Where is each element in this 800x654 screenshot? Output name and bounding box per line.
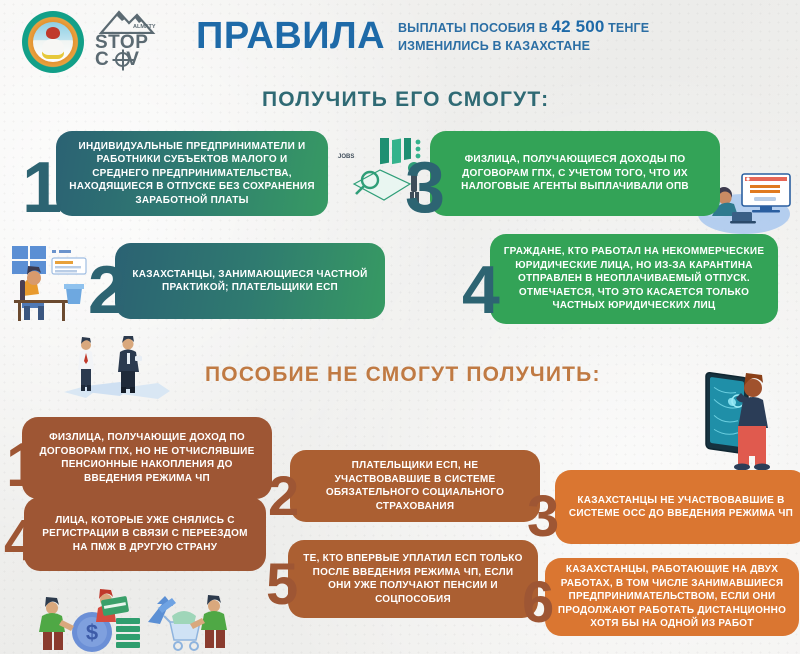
card-ineligible-4-text: ЛИЦА, КОТОРЫЕ УЖЕ СНЯЛИСЬ С РЕГИСТРАЦИИ … bbox=[36, 514, 254, 555]
card-ineligible-3[interactable]: КАЗАХСТАНЦЫ НЕ УЧАСТВОВАВШИЕ В СИСТЕМЕ О… bbox=[555, 470, 800, 544]
mountain-icon: ALMATY bbox=[95, 8, 171, 34]
section-heading-eligible: ПОЛУЧИТЬ ЕГО СМОГУТ: bbox=[262, 88, 549, 112]
card-ineligible-5[interactable]: ТЕ, КТО ВПЕРВЫЕ УПЛАТИЛ ЕСП ТОЛЬКО ПОСЛЕ… bbox=[288, 540, 538, 618]
section-heading-ineligible: ПОСОБИЕ НЕ СМОГУТ ПОЛУЧИТЬ: bbox=[205, 363, 601, 387]
stop-cov-logo: ALMATY STOP CV bbox=[95, 8, 173, 76]
card-ineligible-6-text: КАЗАХСТАНЦЫ, РАБОТАЮЩИЕ НА ДВУХ РАБОТАХ,… bbox=[557, 563, 787, 631]
person-at-desk-workspace-illustration bbox=[4, 240, 94, 328]
card-number-eligible-2: 2 bbox=[88, 256, 126, 324]
card-number-ineligible-3: 3 bbox=[527, 488, 559, 546]
card-eligible-2[interactable]: КАЗАХСТАНЦЫ, ЗАНИМАЮЩИЕСЯ ЧАСТНОЙ ПРАКТИ… bbox=[115, 243, 385, 319]
almaty-city-emblem-logo bbox=[22, 11, 84, 73]
card-eligible-1-text: ИНДИВИДУАЛЬНЫЕ ПРЕДПРИНИМАТЕЛИ И РАБОТНИ… bbox=[68, 140, 316, 208]
card-eligible-1[interactable]: ИНДИВИДУАЛЬНЫЕ ПРЕДПРИНИМАТЕЛИ И РАБОТНИ… bbox=[56, 131, 328, 216]
card-eligible-3-text: ФИЗЛИЦА, ПОЛУЧАЮЩИЕСЯ ДОХОДЫ ПО ДОГОВОРА… bbox=[442, 153, 708, 194]
two-businessmen-on-arrows-illustration bbox=[56, 336, 186, 408]
card-number-eligible-3: 3 bbox=[405, 152, 445, 224]
emblem-inner-crest bbox=[33, 22, 73, 62]
card-ineligible-2-text: ПЛАТЕЛЬЩИКИ ЕСП, НЕ УЧАСТВОВАВШИЕ В СИСТ… bbox=[302, 459, 528, 513]
card-number-ineligible-4: 4 bbox=[4, 512, 36, 570]
subtitle-amount: 42 500 bbox=[552, 17, 605, 36]
card-eligible-2-text: КАЗАХСТАНЦЫ, ЗАНИМАЮЩИЕСЯ ЧАСТНОЙ ПРАКТИ… bbox=[127, 268, 373, 295]
card-eligible-4[interactable]: ГРАЖДАНЕ, КТО РАБОТАЛ НА НЕКОММЕРЧЕСКИЕ … bbox=[490, 234, 778, 324]
card-ineligible-5-text: ТЕ, КТО ВПЕРВЫЕ УПЛАТИЛ ЕСП ТОЛЬКО ПОСЛЕ… bbox=[300, 552, 526, 606]
svg-text:JOBS: JOBS bbox=[338, 154, 354, 160]
virus-icon bbox=[115, 52, 130, 67]
header: ALMATY STOP CV ПРАВИЛА ВЫПЛАТЫ ПОСОБИЯ В… bbox=[0, 0, 800, 84]
subtitle-part-a: ВЫПЛАТЫ ПОСОБИЯ В bbox=[398, 21, 552, 35]
card-number-ineligible-6: 6 bbox=[522, 574, 554, 632]
card-ineligible-4[interactable]: ЛИЦА, КОТОРЫЕ УЖЕ СНЯЛИСЬ С РЕГИСТРАЦИИ … bbox=[24, 497, 266, 571]
card-ineligible-2[interactable]: ПЛАТЕЛЬЩИКИ ЕСП, НЕ УЧАСТВОВАВШИЕ В СИСТ… bbox=[290, 450, 540, 522]
card-ineligible-1-text: ФИЗЛИЦА, ПОЛУЧАЮЩИЕ ДОХОД ПО ДОГОВОРАМ Г… bbox=[34, 431, 260, 485]
page-title: ПРАВИЛА bbox=[196, 15, 385, 58]
page-subtitle: ВЫПЛАТЫ ПОСОБИЯ В 42 500 ТЕНГЕ ИЗМЕНИЛИС… bbox=[398, 18, 728, 55]
person-touching-tablet-screen-illustration bbox=[690, 366, 790, 476]
stopcov-word-cov: CV bbox=[95, 51, 173, 68]
card-number-eligible-4: 4 bbox=[462, 256, 500, 324]
mountain-tag-text: ALMATY bbox=[133, 24, 156, 30]
subtitle-line-2: ИЗМЕНИЛИСЬ В КАЗАХСТАНЕ bbox=[398, 39, 590, 53]
card-number-ineligible-5: 5 bbox=[266, 556, 298, 614]
infographic-canvas: ALMATY STOP CV ПРАВИЛА ВЫПЛАТЫ ПОСОБИЯ В… bbox=[0, 0, 800, 654]
stopcov-letter-c: C bbox=[95, 49, 109, 70]
card-ineligible-1[interactable]: ФИЗЛИЦА, ПОЛУЧАЮЩИЕ ДОХОД ПО ДОГОВОРАМ Г… bbox=[22, 417, 272, 499]
card-number-ineligible-2: 2 bbox=[268, 468, 299, 524]
svg-text:$: $ bbox=[86, 620, 98, 645]
subtitle-part-b: ТЕНГЕ bbox=[604, 21, 649, 35]
card-ineligible-6[interactable]: КАЗАХСТАНЦЫ, РАБОТАЮЩИЕ НА ДВУХ РАБОТАХ,… bbox=[545, 558, 799, 636]
card-ineligible-3-text: КАЗАХСТАНЦЫ НЕ УЧАСТВОВАВШИЕ В СИСТЕМЕ О… bbox=[567, 494, 795, 521]
card-eligible-3[interactable]: ФИЗЛИЦА, ПОЛУЧАЮЩИЕСЯ ДОХОДЫ ПО ДОГОВОРА… bbox=[430, 131, 720, 216]
card-number-ineligible-1: 1 bbox=[6, 435, 40, 497]
shopping-money-cart-illustration: $ bbox=[30, 582, 240, 654]
card-eligible-4-text: ГРАЖДАНЕ, КТО РАБОТАЛ НА НЕКОММЕРЧЕСКИЕ … bbox=[502, 245, 766, 313]
card-number-eligible-1: 1 bbox=[22, 152, 62, 224]
